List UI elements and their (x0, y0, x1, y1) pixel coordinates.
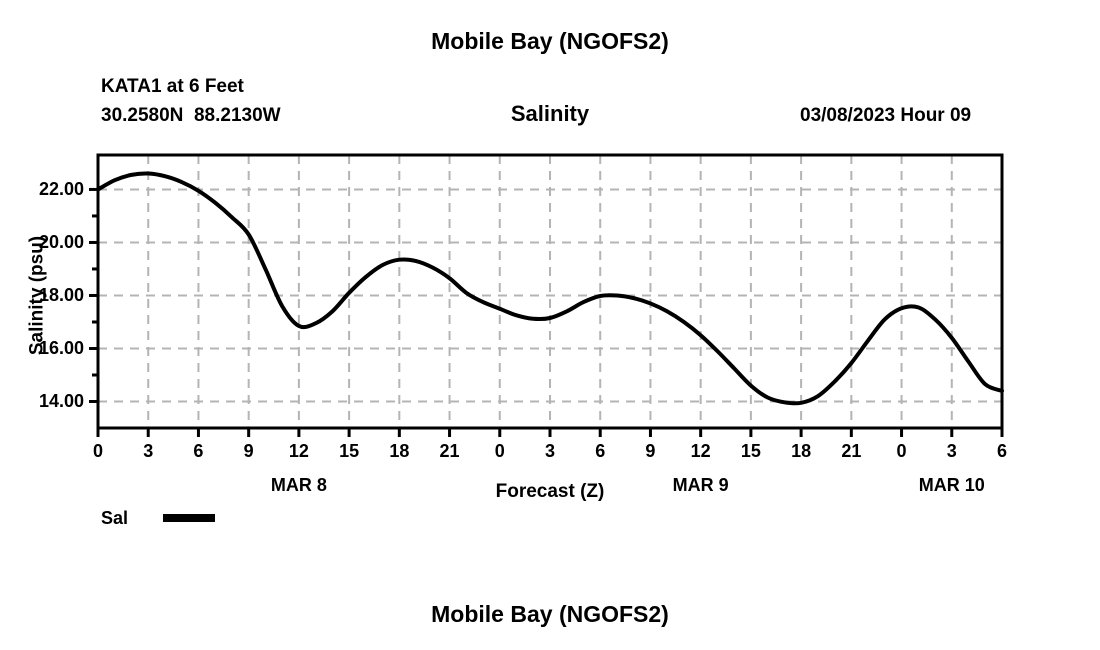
x-tick-label: 12 (279, 442, 319, 460)
x-tick-label: 0 (882, 442, 922, 460)
x-tick-label: 0 (78, 442, 118, 460)
x-tick-label: 3 (932, 442, 972, 460)
x-tick-label: 6 (982, 442, 1022, 460)
x-tick-label: 18 (781, 442, 821, 460)
plot-area (0, 0, 1100, 650)
legend-label: Sal (101, 509, 128, 527)
y-tick-label: 20.00 (14, 233, 84, 251)
y-tick-label: 14.00 (14, 392, 84, 410)
chart-title-bottom: Mobile Bay (NGOFS2) (0, 603, 1100, 626)
x-tick-label: 0 (480, 442, 520, 460)
y-tick-label: 22.00 (14, 180, 84, 198)
day-label: MAR 9 (646, 476, 756, 494)
legend-line-swatch (163, 514, 215, 522)
x-tick-label: 15 (329, 442, 369, 460)
x-tick-label: 9 (630, 442, 670, 460)
day-label: MAR 10 (897, 476, 1007, 494)
x-tick-label: 15 (731, 442, 771, 460)
y-tick-label: 18.00 (14, 286, 84, 304)
x-tick-label: 3 (128, 442, 168, 460)
y-tick-label: 16.00 (14, 339, 84, 357)
gridlines (98, 155, 1002, 428)
x-tick-label: 12 (681, 442, 721, 460)
x-tick-label: 21 (430, 442, 470, 460)
x-tick-label: 18 (379, 442, 419, 460)
day-label: MAR 8 (244, 476, 354, 494)
model-run-label: 03/08/2023 Hour 09 (800, 106, 971, 125)
x-tick-label: 6 (580, 442, 620, 460)
x-tick-label: 21 (831, 442, 871, 460)
salinity-forecast-figure: Mobile Bay (NGOFS2) KATA1 at 6 Feet 30.2… (0, 0, 1100, 650)
chart-title-top: Mobile Bay (NGOFS2) (0, 30, 1100, 53)
station-label: KATA1 at 6 Feet (101, 77, 244, 96)
x-tick-label: 9 (229, 442, 269, 460)
axis-ticks (89, 189, 1002, 437)
x-tick-label: 6 (178, 442, 218, 460)
x-tick-label: 3 (530, 442, 570, 460)
